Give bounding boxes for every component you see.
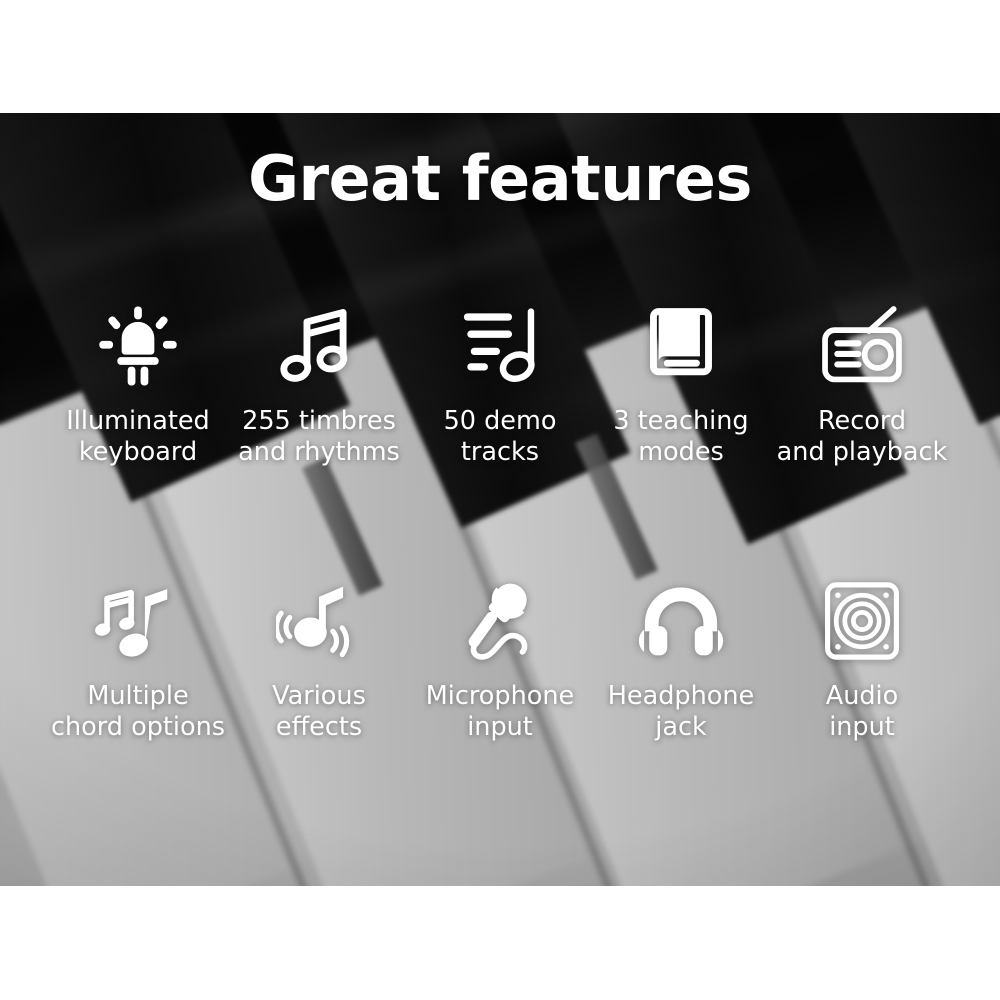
feature-label: 50 demo tracks [444,406,557,468]
feature-record-and-playback[interactable]: Record and playback [772,300,953,468]
multiple-music-notes-icon [95,575,181,667]
feature-label: Microphone input [426,681,574,743]
feature-poster: Great features I [0,0,1000,1000]
feature-label: Headphone jack [608,681,754,743]
book-icon [638,300,724,392]
feature-label: Record and playback [777,406,948,468]
feature-chord-options[interactable]: Multiple chord options [48,575,229,743]
speaker-audio-input-icon [819,575,905,667]
feature-row-2: Multiple chord options [0,575,1000,743]
page-title: Great features [0,148,1000,210]
feature-illuminated-keyboard[interactable]: Illuminated keyboard [48,300,229,468]
music-track-list-icon [457,300,543,392]
feature-label: 3 teaching modes [613,406,748,468]
feature-various-effects[interactable]: Various effects [229,575,410,743]
feature-teaching-modes[interactable]: 3 teaching modes [591,300,772,468]
feature-label: Illuminated keyboard [66,406,209,468]
feature-microphone-input[interactable]: Microphone input [410,575,591,743]
headphones-icon [638,575,724,667]
feature-timbres-and-rhythms[interactable]: 255 timbres and rhythms [229,300,410,468]
microphone-icon [457,575,543,667]
radio-icon [818,300,906,392]
feature-label: Audio input [826,681,898,743]
feature-headphone-jack[interactable]: Headphone jack [591,575,772,743]
beamed-music-notes-icon [276,300,362,392]
feature-label: Multiple chord options [51,681,225,743]
feature-label: Various effects [272,681,366,743]
feature-audio-input[interactable]: Audio input [772,575,953,743]
vibrating-music-note-icon [276,575,362,667]
light-bulb-icon [95,300,181,392]
feature-row-1: Illuminated keyboard 255 timbres and rhy… [0,300,1000,468]
feature-label: 255 timbres and rhythms [238,406,400,468]
feature-demo-tracks[interactable]: 50 demo tracks [410,300,591,468]
